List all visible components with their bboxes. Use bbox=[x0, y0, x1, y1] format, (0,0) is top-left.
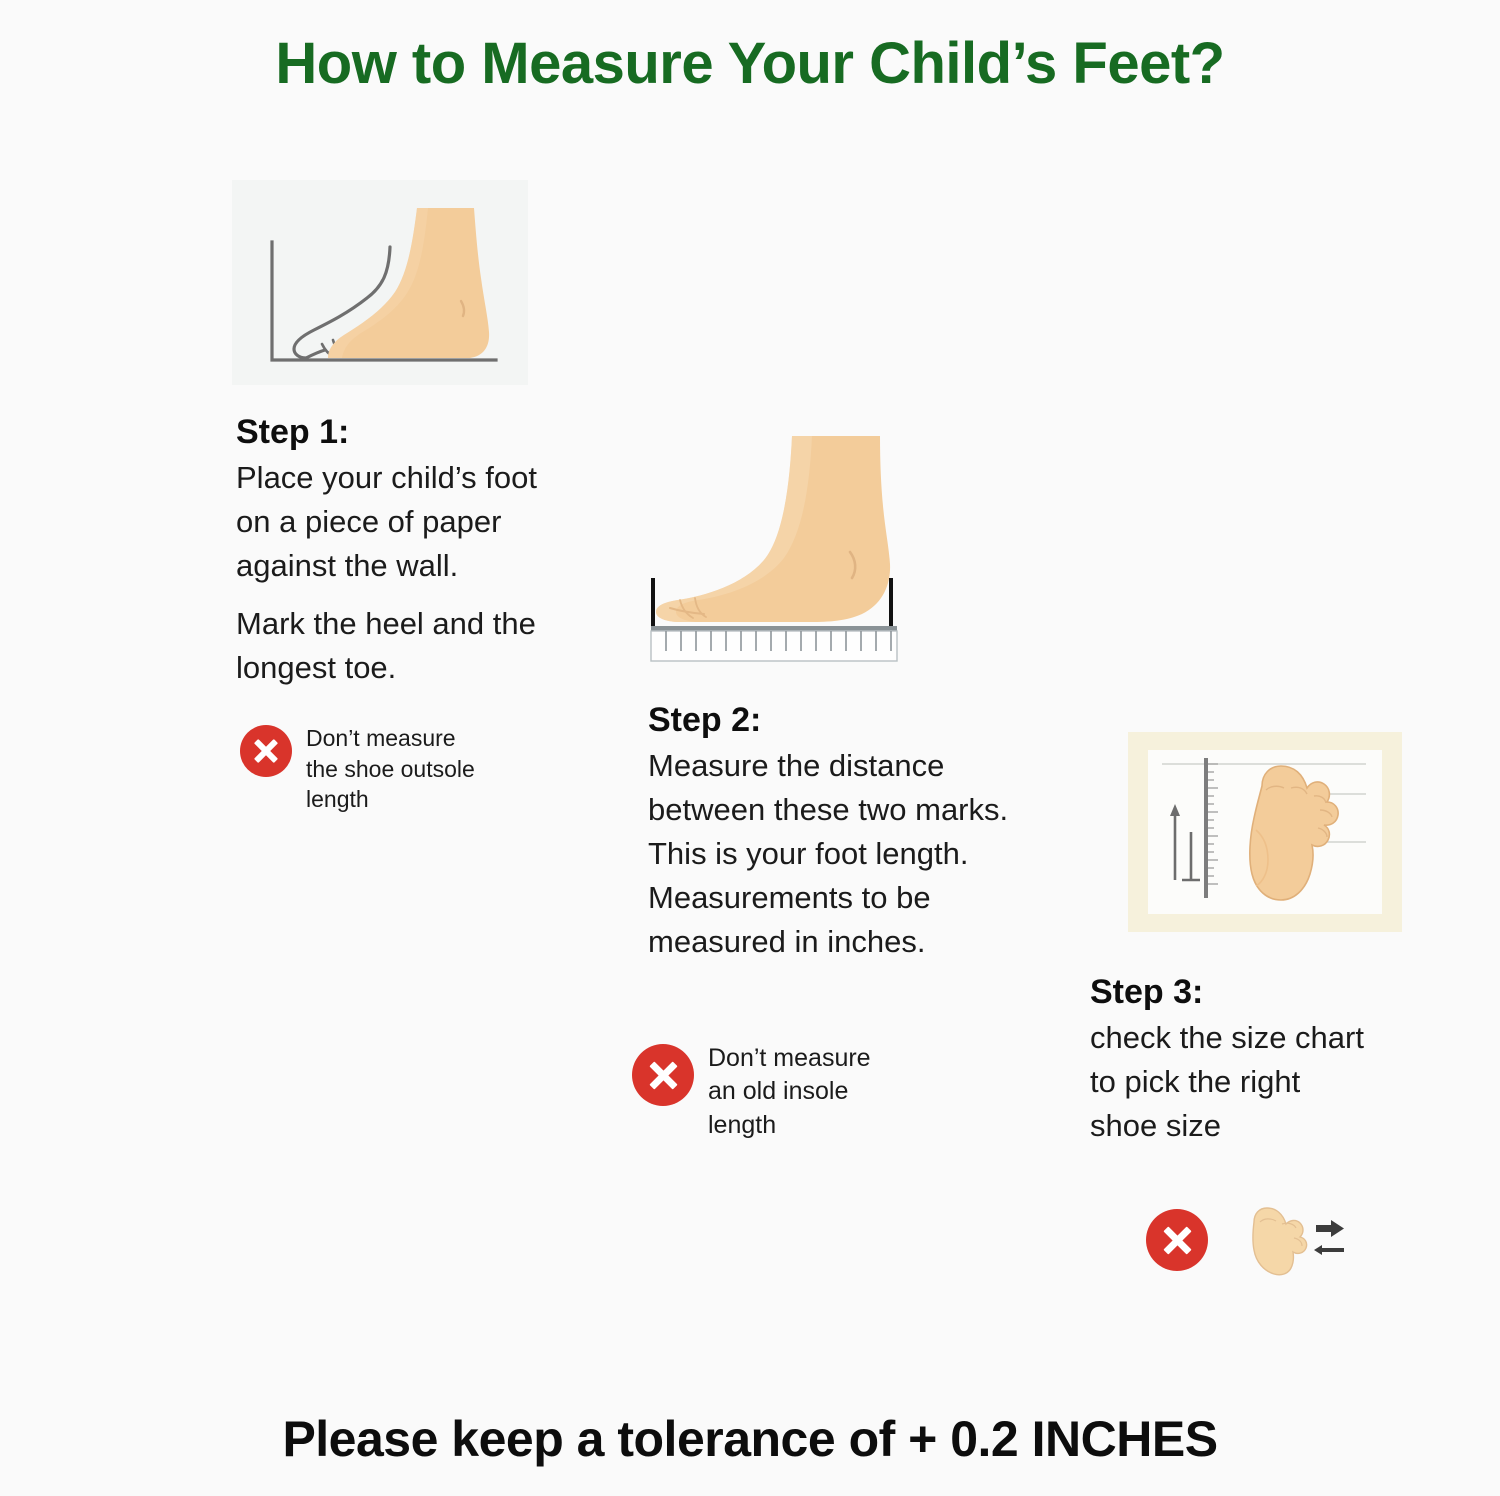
step-3-line-3: shoe size bbox=[1090, 1104, 1430, 1148]
foot-sole-size-chart-illustration bbox=[1148, 750, 1382, 914]
step-1-line-1: Place your child’s foot bbox=[236, 456, 556, 500]
foot-width-measure-icon bbox=[1236, 1200, 1346, 1278]
step-3-chart-area bbox=[1148, 750, 1382, 914]
step-3-line-2: to pick the right bbox=[1090, 1060, 1430, 1104]
step-2-illustration bbox=[640, 418, 940, 668]
step-1-body: Place your child’s foot on a piece of pa… bbox=[236, 456, 556, 690]
red-x-circle-icon bbox=[1146, 1209, 1208, 1271]
step-1-line-5: longest toe. bbox=[236, 646, 556, 690]
step-2-body: Measure the distance between these two m… bbox=[648, 744, 1078, 964]
step-2-heading: Step 2: bbox=[648, 700, 1078, 740]
page-title: How to Measure Your Child’s Feet? bbox=[0, 30, 1500, 97]
step-2-text-block: Step 2: Measure the distance between the… bbox=[648, 700, 1078, 964]
step-1-warning-line-3: length bbox=[306, 784, 475, 815]
step-3-warning bbox=[1146, 1200, 1346, 1278]
vertical-ruler-ticks bbox=[1208, 764, 1218, 884]
step-2-warning-line-1: Don’t measure bbox=[708, 1042, 871, 1075]
reference-bar-icon bbox=[1182, 832, 1200, 880]
step-3-body: check the size chart to pick the right s… bbox=[1090, 1016, 1430, 1148]
arrow-left-icon bbox=[1314, 1245, 1344, 1255]
step-1-heading: Step 1: bbox=[236, 412, 556, 452]
step-3-heading: Step 3: bbox=[1090, 972, 1430, 1012]
length-arrow-icon bbox=[1170, 804, 1180, 880]
tolerance-note: Please keep a tolerance of + 0.2 INCHES bbox=[0, 1410, 1500, 1468]
step-1-warning-line-1: Don’t measure bbox=[306, 723, 475, 754]
step-2-line-2: between these two marks. bbox=[648, 788, 1078, 832]
step-1-line-2: on a piece of paper bbox=[236, 500, 556, 544]
step-1-warning-line-2: the shoe outsole bbox=[306, 754, 475, 785]
step-3-text-block: Step 3: check the size chart to pick the… bbox=[1090, 972, 1430, 1148]
step-1-line-3: against the wall. bbox=[236, 544, 556, 588]
step-2-line-3: This is your foot length. bbox=[648, 832, 1078, 876]
step-3-line-1: check the size chart bbox=[1090, 1016, 1430, 1060]
red-x-circle-icon bbox=[632, 1044, 694, 1106]
step-3-illustration-panel bbox=[1128, 732, 1402, 932]
step-2-warning-text: Don’t measure an old insole length bbox=[708, 1042, 871, 1142]
step-2-line-1: Measure the distance bbox=[648, 744, 1078, 788]
step-1-text-block: Step 1: Place your child’s foot on a pie… bbox=[236, 412, 556, 690]
arrow-right-icon bbox=[1316, 1220, 1344, 1237]
step-1-illustration-panel bbox=[232, 180, 528, 385]
step-1-warning: Don’t measure the shoe outsole length bbox=[240, 723, 475, 815]
red-x-circle-icon bbox=[240, 725, 292, 777]
step-1-line-4: Mark the heel and the bbox=[236, 602, 556, 646]
step-2-warning: Don’t measure an old insole length bbox=[632, 1042, 871, 1142]
step-2-warning-line-2: an old insole bbox=[708, 1075, 871, 1108]
foot-side-on-ruler-illustration bbox=[640, 418, 940, 668]
step-2-warning-line-3: length bbox=[708, 1109, 871, 1142]
infographic-canvas: How to Measure Your Child’s Feet? Step 1… bbox=[0, 0, 1500, 1496]
step-2-line-4: Measurements to be bbox=[648, 876, 1078, 920]
step-2-line-5: measured in inches. bbox=[648, 920, 1078, 964]
step-1-warning-text: Don’t measure the shoe outsole length bbox=[306, 723, 475, 815]
foot-side-against-wall-illustration bbox=[232, 180, 528, 385]
foot-sole-icon bbox=[1253, 1208, 1307, 1275]
